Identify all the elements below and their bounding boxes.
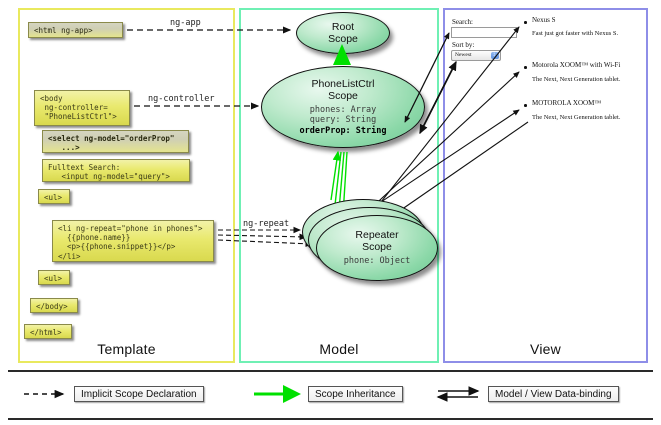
repeater-scope: RepeaterScope phone: Object <box>316 215 438 281</box>
legend-bottom-rule <box>8 418 653 420</box>
phonelistctrl-scope-title: PhoneListCtrlScope <box>311 78 374 102</box>
legend-implicit-scope: Implicit Scope Declaration <box>74 386 204 402</box>
repeater-scope-title: RepeaterScope <box>355 229 398 253</box>
html-tag-box: <html ng-app> <box>28 22 123 38</box>
view-phone-name[interactable]: Motorola XOOM™ with Wi-Fi <box>532 61 620 69</box>
view-list-bullet <box>524 21 527 24</box>
root-scope: RootScope <box>296 12 390 54</box>
html-close-box: </html> <box>24 324 72 339</box>
ul-open-box: <ul> <box>38 189 70 204</box>
view-phone-name[interactable]: MOTOROLA XOOM™ <box>532 99 601 107</box>
root-scope-title: RootScope <box>328 21 358 45</box>
diagram-canvas: Template Model View <html ng-app> <body … <box>0 0 661 425</box>
view-list-bullet <box>524 104 527 107</box>
body-tag-box: <body ng-controller= "PhoneListCtrl"> <box>34 90 130 126</box>
view-phone-snippet: The Next, Next Generation tablet. <box>532 114 620 121</box>
panel-model-label: Model <box>241 341 437 357</box>
ul-close-box: <ul> <box>38 270 70 285</box>
legend-top-rule <box>8 370 653 372</box>
fulltext-search-box: Fulltext Search: <input ng-model="query"… <box>42 159 190 182</box>
view-phone-snippet: The Next, Next Generation tablet. <box>532 76 620 83</box>
view-sort-select[interactable]: Newest <box>451 50 501 61</box>
chevron-updown-icon <box>491 52 499 59</box>
view-search-input[interactable] <box>451 27 517 38</box>
edge-label-ng-controller: ng-controller <box>148 94 215 104</box>
view-search-label: Search: <box>452 18 473 26</box>
edge-label-ng-app: ng-app <box>170 18 201 28</box>
panel-view-label: View <box>445 341 646 357</box>
panel-template-label: Template <box>20 341 233 357</box>
prop-query: query: String <box>310 115 377 125</box>
body-close-box: </body> <box>30 298 78 313</box>
select-tag-box: <select ng-model="orderProp" ...> <box>42 130 189 153</box>
phonelistctrl-scope: PhoneListCtrlScope phones: Array query: … <box>261 66 425 148</box>
phonelistctrl-scope-props: phones: Array query: String orderProp: S… <box>300 105 387 137</box>
legend: Implicit Scope Declaration Scope Inherit… <box>8 370 653 420</box>
panel-model: Model <box>239 8 439 363</box>
view-list-bullet <box>524 66 527 69</box>
prop-phone: phone: Object <box>344 256 411 266</box>
prop-orderprop: orderProp: String <box>300 126 387 136</box>
li-repeat-box: <li ng-repeat="phone in phones"> {{phone… <box>52 220 214 262</box>
legend-data-binding: Model / View Data-binding <box>488 386 619 402</box>
view-phone-name[interactable]: Nexus S <box>532 16 556 24</box>
repeater-scope-props: phone: Object <box>344 256 411 267</box>
edge-label-ng-repeat: ng-repeat <box>243 219 289 229</box>
prop-phones: phones: Array <box>310 105 377 115</box>
view-phone-snippet: Fast just got faster with Nexus S. <box>532 30 618 37</box>
view-sort-label: Sort by: <box>452 41 474 49</box>
view-sort-selected-value: Newest <box>455 52 472 58</box>
legend-scope-inheritance: Scope Inheritance <box>308 386 403 402</box>
